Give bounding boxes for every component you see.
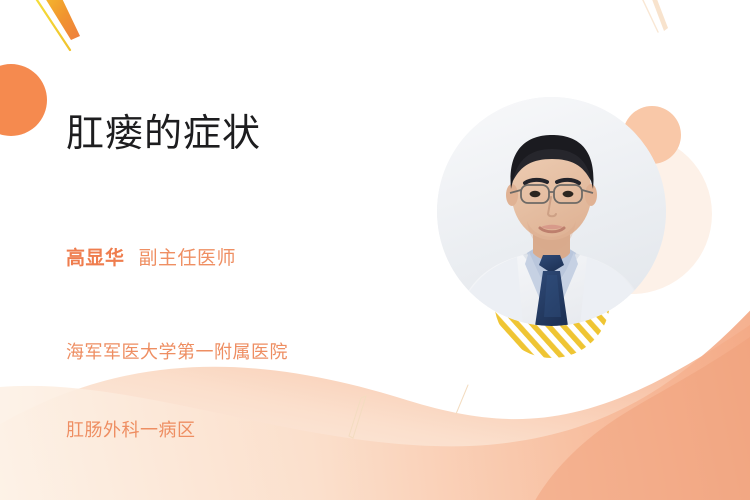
affiliation: 海军军医大学第一附属医院 肛肠外科一病区 [66,288,288,497]
doctor-name: 高显华 [66,247,125,269]
diagonal-lines-beige-topright [641,0,668,32]
wave-accent-salmon [530,330,750,500]
slide-canvas: 肛瘘的症状 高显华副主任医师 海军军医大学第一附属医院 肛肠外科一病区 [0,0,750,500]
affiliation-department: 肛肠外科一病区 [66,418,288,444]
orange-circle-left [0,64,47,136]
affiliation-hospital: 海军军医大学第一附属医院 [66,340,288,366]
portrait-illustration [437,97,666,326]
page-title: 肛瘘的症状 [66,113,261,155]
diagonal-stripe-orange-topleft [40,0,80,40]
portrait-circle-mask [437,97,666,326]
thin-outline-strokes-bottom [349,385,468,438]
doctor-portrait [437,97,666,326]
diagonal-line-yellow-topleft [33,0,70,50]
doctor-professional-title: 副主任医师 [139,247,237,269]
byline: 高显华副主任医师 [66,249,236,268]
